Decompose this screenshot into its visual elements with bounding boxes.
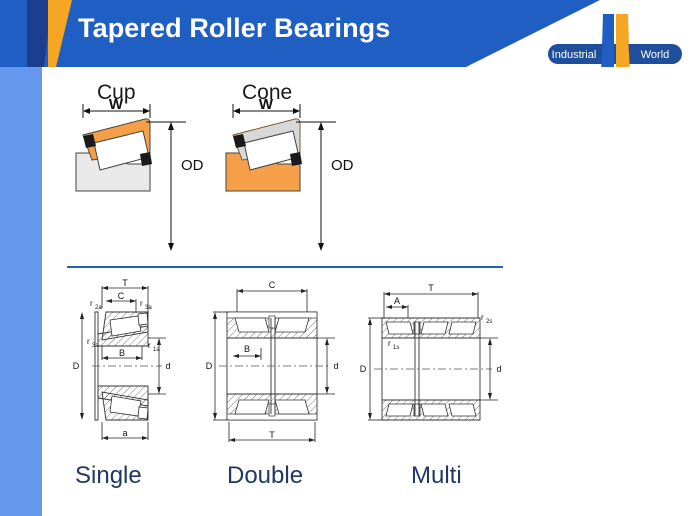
multi-r2s-label: r 2s: [481, 313, 492, 325]
figure-double-row: C: [203, 278, 343, 458]
single-r3a-mid-base: r: [87, 337, 90, 346]
cup-od-label: OD: [181, 157, 204, 174]
single-r2a-sub: 2a: [95, 305, 102, 311]
double-D-label: D: [206, 361, 213, 371]
double-lower-roller-left: [235, 400, 269, 414]
single-r2a-label: r 2a: [90, 299, 102, 311]
double-B-label: B: [244, 344, 250, 354]
multi-A-dimension: [386, 305, 408, 318]
double-lower-roller-right: [275, 400, 309, 414]
multi-r1s-sub: 1s: [393, 345, 399, 351]
double-upper-roller-left: [235, 318, 269, 332]
single-lower-rib: [138, 407, 148, 419]
single-upper-rib: [138, 313, 148, 325]
cone-cage-right: [290, 152, 302, 166]
caption-single: Single: [75, 462, 142, 490]
caption-multi: Multi: [411, 462, 462, 490]
logo-label-world: World: [641, 49, 670, 61]
double-C-label: C: [269, 280, 276, 290]
single-r1a-sub: 1a: [153, 347, 160, 353]
double-upper-spacer: [269, 316, 275, 328]
single-T-label: T: [122, 278, 128, 288]
single-r3a-top-label: r 3a: [140, 299, 152, 311]
single-B-label: B: [119, 348, 125, 358]
multi-r1s-label: r 1s: [388, 339, 399, 351]
single-D-dimension: [80, 312, 84, 420]
slide-root: Tapered Roller Bearings Industrial World…: [0, 0, 700, 516]
figure-cup: W OD: [66, 98, 226, 263]
single-r3a-sub: 3a: [145, 305, 152, 311]
figure-double-drawing: C: [203, 278, 343, 453]
double-upper-roller-right: [275, 318, 309, 332]
single-C-label: C: [118, 291, 125, 301]
multi-D-label: D: [360, 364, 367, 374]
caption-double: Double: [227, 462, 303, 490]
cone-od-label: OD: [331, 157, 354, 174]
single-a-label: a: [122, 428, 127, 438]
left-color-band: [0, 67, 42, 516]
figure-cone: W OD: [216, 98, 376, 263]
multi-T-label: T: [428, 283, 434, 293]
multi-upper-roller-2: [421, 322, 448, 334]
cup-w-label: W: [109, 98, 124, 113]
multi-r2s-sub: 2s: [486, 319, 492, 325]
figure-single-drawing: T C r 2a r 3a: [62, 278, 182, 453]
cone-od-dimension: [296, 122, 336, 251]
double-T-label: T: [269, 430, 275, 440]
page-title: Tapered Roller Bearings: [78, 13, 390, 44]
section-divider: [67, 266, 503, 268]
double-d-label: d: [333, 361, 338, 371]
logo-label-industrial: Industrial: [552, 49, 597, 61]
multi-d-label: d: [496, 364, 501, 374]
figure-multi-drawing: T A r 2s r 1s: [352, 278, 507, 453]
single-r2a-base: r: [90, 299, 93, 308]
double-C-dimension: [237, 289, 307, 312]
multi-A-label: A: [394, 296, 400, 306]
cone-w-label: W: [259, 98, 274, 113]
multi-r2s-base: r: [481, 313, 484, 322]
multi-lower-roller-1: [386, 404, 413, 416]
figure-cup-drawing: W OD: [66, 98, 226, 258]
cup-cage-right: [140, 152, 152, 166]
single-d-label: d: [165, 361, 170, 371]
single-r3a-base: r: [140, 299, 143, 308]
multi-lower-roller-3: [449, 404, 476, 416]
multi-lower-roller-2: [421, 404, 448, 416]
single-C-dimension: [106, 299, 136, 313]
cup-od-dimension: [146, 122, 186, 251]
single-r1a-base: r: [148, 341, 151, 350]
figure-single-row: T C r 2a r 3a: [62, 278, 182, 458]
single-r3a-mid-sub: 3a: [92, 343, 99, 349]
multi-upper-roller-3: [449, 322, 476, 334]
figure-multi-row: T A r 2s r 1s: [352, 278, 507, 458]
single-D-label: D: [73, 361, 80, 371]
multi-r1s-base: r: [388, 339, 391, 348]
double-lower-spacer: [269, 404, 275, 416]
figure-cone-drawing: W OD: [216, 98, 376, 258]
multi-upper-roller-1: [386, 322, 413, 334]
